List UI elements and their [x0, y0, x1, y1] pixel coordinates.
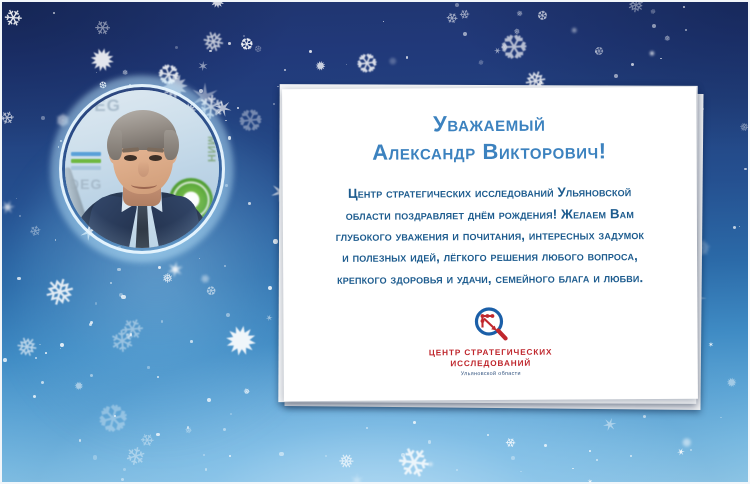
card-message-line: Центр стратегических исследований Ульяно… — [348, 184, 632, 201]
snow-dot — [161, 320, 163, 322]
snow-dot — [41, 116, 45, 120]
snow-dot — [187, 426, 190, 429]
csr-logo-name: Центр стратегических исследований — [429, 348, 553, 370]
card-message-line: крепкого здоровья и удачи, семейного бла… — [337, 270, 643, 287]
snowflake-icon: ❄ — [116, 316, 146, 342]
snow-dot — [463, 32, 467, 36]
snow-dot — [207, 398, 211, 402]
snow-dot — [90, 321, 93, 324]
snowflake-icon: ✶ — [492, 46, 503, 58]
snowflake-icon: ✶ — [674, 447, 685, 457]
snow-dot — [366, 427, 368, 429]
snow-dot — [41, 381, 44, 384]
snowflake-icon: ❅ — [622, 2, 647, 16]
csr-logo-name-line-2: исследований — [450, 358, 531, 367]
snowflake-icon: ❅ — [241, 387, 251, 397]
snowflake-icon: ✹ — [86, 44, 117, 79]
portrait-photo: DEG DEG МИН — [65, 90, 219, 248]
snow-dot — [119, 293, 123, 297]
snow-dot — [130, 333, 133, 336]
snow-dot — [121, 478, 124, 481]
snowflake-icon: ❄ — [90, 15, 115, 41]
salutation-line-2: Александр Викторович! — [372, 137, 607, 167]
snowflake-icon: ❄ — [136, 430, 158, 452]
greeting-card-image: ❆❅✹❆❅❅❆✶❆❄❅❅❆✶❅✹❆✹❅❄❆❆❆❄❆❅❆❅❅❅❅❆❄❅❆❄❅✹❅❆… — [0, 0, 750, 484]
snowflake-icon: ✶ — [193, 59, 210, 75]
snow-dot — [19, 215, 20, 216]
snowflake-icon: ✶ — [585, 477, 594, 482]
snowflake-icon: ❆ — [386, 57, 397, 69]
snow-dot — [45, 352, 47, 354]
portrait-figure — [65, 90, 219, 248]
snowflake-icon: ✶ — [161, 257, 187, 281]
snowflake-icon: ✶ — [708, 341, 714, 348]
snow-dot — [660, 58, 661, 59]
snowflake-icon: ✹ — [311, 59, 327, 73]
snow-dot — [114, 415, 117, 418]
magnifier-chart-icon — [470, 305, 510, 345]
csr-logo-name-line-1: Центр стратегических — [429, 348, 553, 358]
snow-dot — [79, 439, 82, 442]
snow-dot — [325, 455, 327, 457]
snow-dot — [652, 24, 656, 28]
snowflake-icon: ❆ — [591, 44, 605, 59]
snow-dot — [248, 202, 251, 205]
snow-dot — [110, 282, 112, 284]
snow-dot — [309, 50, 312, 53]
snow-dot — [487, 434, 489, 436]
snow-dot — [117, 268, 120, 271]
snowflake-icon: ✹ — [73, 380, 83, 392]
snow-dot — [223, 428, 226, 431]
snow-dot — [16, 198, 17, 199]
snowflake-icon: ❆ — [237, 37, 255, 53]
snow-dot — [739, 226, 740, 227]
snow-dot — [190, 340, 193, 343]
snowflake-icon: ❅ — [499, 43, 509, 54]
snow-dot — [17, 277, 21, 281]
snowflake-icon: ❅ — [195, 25, 230, 60]
snow-dot — [35, 357, 36, 358]
snowflake-icon: ❆ — [204, 284, 218, 299]
snowflake-icon: ❅ — [664, 35, 671, 43]
snow-dot — [683, 6, 685, 8]
snowflake-icon: ❄ — [26, 224, 43, 239]
snow-dot — [93, 455, 97, 459]
snow-dot — [175, 46, 179, 50]
snowflake-icon: ❆ — [492, 27, 533, 71]
figure-hair-left — [107, 130, 122, 160]
card-stack: Уважаемый Александр Викторович! Центр ст… — [272, 78, 702, 408]
snow-dot — [401, 453, 405, 457]
snow-dot — [90, 374, 93, 377]
snow-dot — [685, 29, 687, 31]
snow-dot — [720, 417, 721, 418]
snow-dot — [572, 468, 574, 470]
snow-dot — [123, 468, 126, 471]
portrait-avatar: DEG DEG МИН — [62, 87, 222, 251]
snow-dot — [596, 459, 598, 461]
snow-dot — [147, 366, 149, 368]
snowflake-icon: ❅ — [122, 69, 128, 76]
snowflake-icon: ❅ — [334, 449, 358, 474]
snow-dot — [413, 421, 416, 424]
snowflake-icon: ✹ — [648, 50, 656, 57]
figure-eye-right — [149, 155, 162, 161]
snowflake-icon: ❅ — [182, 426, 193, 437]
snowflake-icon: ❅ — [736, 120, 748, 135]
snowflake-icon: ❄ — [123, 443, 149, 472]
snow-dot — [229, 455, 231, 457]
snowflake-icon: ❅ — [571, 27, 577, 35]
snowflake-icon: ❄ — [101, 323, 140, 361]
snowflake-icon: ✶ — [343, 470, 367, 482]
snowflake-icon: ✹ — [220, 321, 260, 366]
snow-dot — [643, 415, 647, 419]
snow-dot — [158, 266, 161, 269]
snow-dot — [205, 468, 208, 471]
snowflake-icon: ❅ — [511, 27, 521, 37]
snowflake-icon: ✶ — [426, 460, 435, 470]
snow-dot — [157, 376, 159, 378]
snow-dot — [95, 302, 97, 304]
snow-dot — [455, 3, 459, 7]
csr-logo: Центр стратегических исследований Ульяно… — [429, 305, 553, 378]
figure-nose — [138, 161, 149, 177]
snow-dot — [60, 343, 64, 347]
snowflake-icon: ✶ — [598, 415, 618, 433]
snowflake-icon: ✹ — [677, 435, 693, 450]
snow-dot — [60, 348, 61, 349]
snow-dot — [733, 226, 736, 229]
figure-mouth — [131, 180, 157, 189]
snow-dot — [156, 433, 160, 437]
snowflake-icon: ❆ — [232, 103, 267, 141]
snow-dot — [203, 454, 205, 456]
snow-dot — [228, 42, 231, 45]
snowflake-icon: ❄ — [2, 3, 27, 33]
snow-dot — [346, 64, 347, 65]
snowflake-icon: ✶ — [2, 196, 18, 220]
snowflake-icon: ❆ — [536, 9, 549, 23]
salutation-line-1: Уважаемый — [372, 109, 607, 139]
card-message-line: области поздравляет днём рождения! Желае… — [346, 206, 634, 223]
snowflake-icon: ✹ — [725, 377, 737, 391]
card-message: Центр стратегических исследований Ульяно… — [335, 181, 644, 290]
snowflake-icon: ❅ — [648, 7, 657, 16]
snowflake-icon: ❄ — [442, 10, 460, 29]
snowflake-icon: ❆ — [251, 44, 262, 54]
snow-dot — [226, 313, 230, 317]
snow-dot — [33, 395, 36, 398]
card-message-line: и полезных идей, лёгкого решения любого … — [342, 249, 638, 266]
card-salutation: Уважаемый Александр Викторович! — [372, 109, 607, 167]
snowflake-icon: ❆ — [351, 51, 380, 76]
snow-dot — [631, 63, 634, 66]
snow-dot — [383, 21, 384, 22]
snow-dot — [589, 450, 591, 452]
snow-dot — [39, 344, 40, 345]
snow-dot — [406, 56, 408, 58]
snow-dot — [96, 72, 97, 73]
snow-dot — [243, 35, 245, 37]
snow-dot — [544, 444, 547, 447]
snowflake-icon: ❄ — [2, 108, 16, 130]
figure-eye-left — [124, 155, 137, 161]
snowflake-icon: ❅ — [39, 272, 78, 315]
figure-hair-right — [164, 130, 179, 160]
snowflake-icon: ❅ — [158, 270, 175, 286]
snow-dot — [230, 413, 232, 415]
snow-dot — [3, 358, 7, 362]
snow-dot — [595, 51, 597, 53]
snow-dot — [55, 239, 56, 240]
snow-dot — [690, 449, 692, 451]
snow-dot — [89, 323, 92, 326]
snow-dot — [237, 107, 239, 109]
snow-dot — [456, 469, 457, 470]
snow-dot — [225, 120, 226, 121]
snowflake-icon: ❅ — [514, 9, 524, 19]
snow-dot — [199, 258, 200, 259]
snowflake-icon: ❄ — [501, 436, 517, 453]
snow-dot — [209, 50, 211, 52]
snowflake-icon: ❄ — [387, 436, 439, 482]
snow-dot — [121, 295, 125, 299]
snow-dot — [428, 440, 432, 444]
csr-logo-region: Ульяновской области — [461, 371, 521, 377]
snow-dot — [284, 69, 286, 71]
snowflake-icon: ❅ — [477, 58, 484, 66]
snow-dot — [511, 456, 515, 460]
snowflake-icon: ❆ — [92, 397, 133, 442]
snow-dot — [520, 471, 521, 472]
snow-dot — [630, 455, 632, 457]
card-message-line: глубокого уважения и почитания, интересн… — [336, 227, 645, 244]
greeting-card-front: Уважаемый Александр Викторович! Центр ст… — [282, 87, 698, 402]
snowflake-icon: ❅ — [9, 331, 43, 365]
snowflake-icon: ❄ — [456, 8, 469, 19]
snow-dot — [224, 265, 226, 267]
snow-dot — [53, 12, 54, 13]
snow-dot — [744, 168, 746, 170]
snowflake-icon: ❄ — [199, 273, 212, 287]
snow-dot — [279, 452, 283, 456]
snowflake-icon: ✹ — [203, 2, 227, 14]
